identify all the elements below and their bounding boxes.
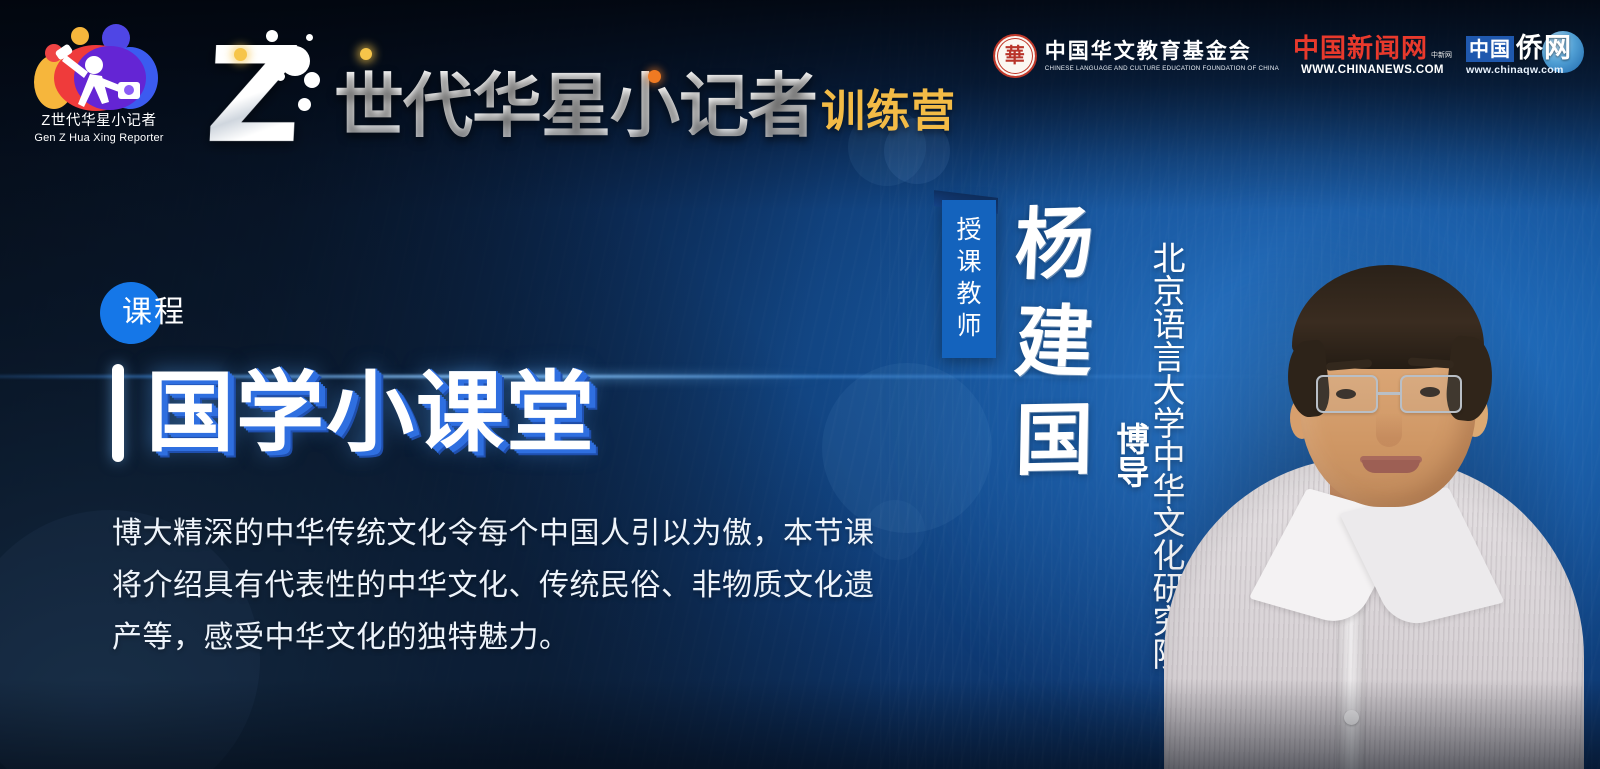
bubble-icon xyxy=(276,72,285,81)
course-badge-label: 课程 xyxy=(122,294,186,332)
chinese-language-foundation-seal-icon: 華 xyxy=(993,34,1037,78)
portrait-glasses-bridge xyxy=(1378,392,1400,395)
portrait-shirt-button xyxy=(1344,710,1359,725)
teacher-ribbon: 授 课 教 师 xyxy=(942,200,996,358)
bubble-icon xyxy=(280,46,310,76)
portrait-nose xyxy=(1376,413,1402,447)
teacher-name-char: 国 xyxy=(1014,400,1093,481)
course-banner: Z世代华星小记者 Gen Z Hua Xing Reporter Z 世代华星小… xyxy=(0,0,1600,769)
bubble-icon xyxy=(306,34,313,41)
ribbon-body: 授 课 教 师 xyxy=(942,200,996,358)
partner-badge-cn: 中新网 xyxy=(1431,51,1452,60)
portrait-glasses-right xyxy=(1400,375,1462,413)
orange-dot-icon xyxy=(648,70,661,83)
bubble-icon xyxy=(298,98,311,111)
partner-name-suffix: 侨网 xyxy=(1516,35,1572,63)
headline-lockup: Z 世代华星小记者 训练营 xyxy=(206,22,956,152)
teacher-name: 杨 建 国 xyxy=(1008,205,1100,481)
headline-main: 世代华星小记者 xyxy=(334,68,817,152)
brand-name-cn: Z世代华星小记者 xyxy=(18,112,180,131)
brand-name-en: Gen Z Hua Xing Reporter xyxy=(18,131,180,146)
course-title-row: 国学小课堂 xyxy=(112,364,596,462)
sparkle-icon xyxy=(234,48,247,61)
partner-name-cn: 中国新闻网 xyxy=(1293,35,1428,63)
portrait-shirt-placket xyxy=(1336,597,1366,769)
sparkle-icon xyxy=(360,48,372,60)
course-badge: 课程 xyxy=(100,282,280,360)
ribbon-char: 授 xyxy=(956,214,981,246)
ribbon-char: 教 xyxy=(956,278,981,310)
teacher-name-char: 建 xyxy=(1012,302,1096,383)
bubble-icon xyxy=(304,72,320,88)
brand-logo-text: Z世代华星小记者 Gen Z Hua Xing Reporter xyxy=(18,112,180,146)
course-description: 博大精深的中华传统文化令每个中国人引以为傲，本节课将介绍具有代表性的中华文化、传… xyxy=(112,508,902,664)
reporter-mascot-logo-icon xyxy=(18,8,180,116)
title-accent-bar xyxy=(112,364,124,462)
brand-logo: Z世代华星小记者 Gen Z Hua Xing Reporter xyxy=(18,8,180,156)
portrait-glasses-left xyxy=(1316,375,1378,413)
partner-name-prefix: 中国 xyxy=(1466,36,1514,62)
partner-name-cn: 中国华文教育基金会 xyxy=(1045,39,1279,64)
ribbon-char: 课 xyxy=(956,246,981,278)
headline-suffix: 训练营 xyxy=(821,86,956,152)
portrait-mouth xyxy=(1362,460,1420,473)
course-title: 国学小课堂 xyxy=(146,364,596,462)
z-letter-mark: Z xyxy=(206,24,332,152)
teacher-name-char: 杨 xyxy=(1013,204,1095,286)
bubble-icon xyxy=(266,30,278,42)
teacher-portrait xyxy=(1130,69,1600,769)
ribbon-char: 师 xyxy=(956,310,981,342)
